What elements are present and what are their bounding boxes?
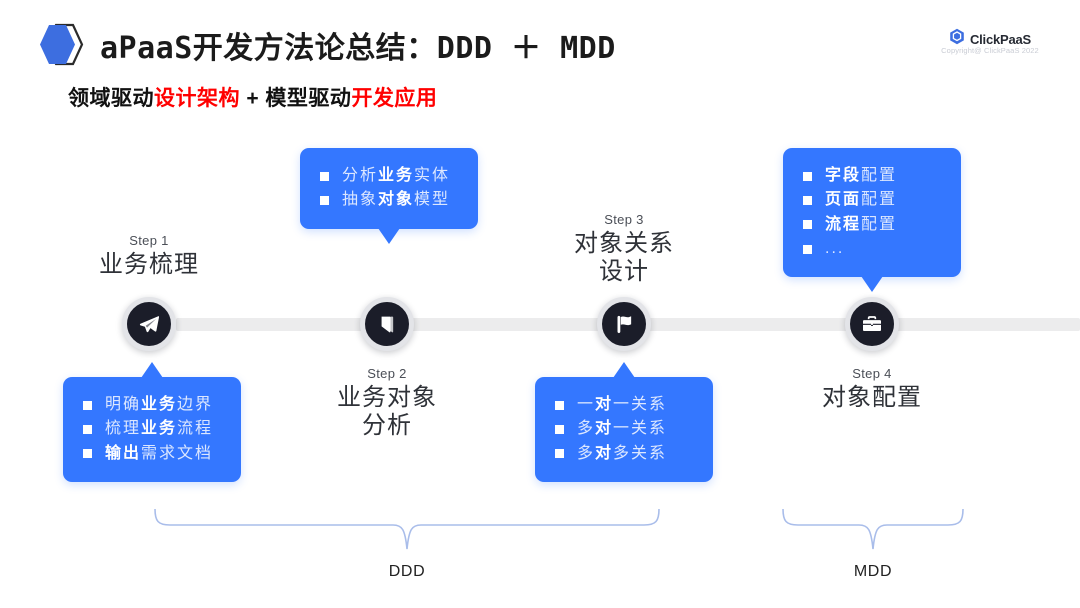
step-caption-2: Step 2 业务对象 分析 <box>287 366 487 441</box>
item-plain-after: 需求文档 <box>141 445 213 462</box>
bullet-square-icon <box>555 449 564 458</box>
item-plain-before: 分析 <box>342 167 378 184</box>
item-bold: 流程 <box>825 216 861 233</box>
callout-item: 多对多关系 <box>555 442 693 466</box>
paper-plane-icon <box>139 314 160 335</box>
callout-item: 明确业务边界 <box>83 393 221 417</box>
page-subtitle: 领域驱动设计架构 + 模型驱动开发应用 <box>68 82 437 112</box>
brand-name: ClickPaaS <box>970 32 1031 47</box>
callout-item: 输出需求文档 <box>83 442 221 466</box>
brace-label-ddd-text: DDD <box>389 563 425 580</box>
item-bold: 业务 <box>141 396 177 413</box>
brace-label-mdd-text: MDD <box>854 563 892 580</box>
item-plain-after: ... <box>825 240 844 257</box>
callout-tail-3 <box>613 362 635 378</box>
item-plain-after: 一关系 <box>613 396 667 413</box>
step-title-3: 对象关系 设计 <box>524 230 724 287</box>
subtitle-part-1: 领域驱动 <box>68 87 154 110</box>
callout-step-1: 明确业务边界 梳理业务流程 输出需求文档 <box>63 377 241 482</box>
item-plain-before: 一 <box>577 396 595 413</box>
step-title-4: 对象配置 <box>772 384 972 412</box>
book-icon <box>377 314 397 335</box>
subtitle-part-4: 开发应用 <box>351 87 437 110</box>
hexagon-logo-icon <box>35 22 91 68</box>
bullet-square-icon <box>320 196 329 205</box>
bullet-square-icon <box>83 449 92 458</box>
item-bold: 输出 <box>105 445 141 462</box>
bullet-square-icon <box>555 401 564 410</box>
callout-item: 字段配置 <box>803 164 941 188</box>
step-kicker-3: Step 3 <box>524 212 724 227</box>
item-plain-after: 边界 <box>177 396 213 413</box>
item-bold: 页面 <box>825 191 861 208</box>
brace-label-mdd: MDD <box>793 563 953 581</box>
item-plain-before: 抽象 <box>342 191 378 208</box>
page-title: aPaaS开发方法论总结：DDD ＋ MDD <box>100 21 616 69</box>
item-plain-after: 配置 <box>861 191 897 208</box>
bullet-square-icon <box>555 425 564 434</box>
bullet-square-icon <box>803 220 812 229</box>
item-bold: 业务 <box>378 167 414 184</box>
item-bold: 业务 <box>141 420 177 437</box>
item-plain-after: 多关系 <box>613 445 667 462</box>
briefcase-icon <box>862 314 882 334</box>
slide-canvas: aPaaS开发方法论总结：DDD ＋ MDD 领域驱动设计架构 + 模型驱动开发… <box>0 0 1080 608</box>
item-plain-before: 多 <box>577 420 595 437</box>
timeline-node-step-4[interactable] <box>845 297 899 351</box>
callout-step-3: 一对一关系 多对一关系 多对多关系 <box>535 377 713 482</box>
step-caption-1: Step 1 业务梳理 <box>49 233 249 279</box>
callout-tail-4 <box>861 276 883 292</box>
subtitle-part-3: + 模型驱动 <box>240 87 351 110</box>
bullet-square-icon <box>803 245 812 254</box>
item-bold: 字段 <box>825 167 861 184</box>
callout-item: 多对一关系 <box>555 417 693 441</box>
brand-block: ClickPaaS Copyright@ ClickPaaS 2022 <box>930 28 1050 55</box>
step-caption-4: Step 4 对象配置 <box>772 366 972 412</box>
callout-item: 流程配置 <box>803 213 941 237</box>
step-kicker-2: Step 2 <box>287 366 487 381</box>
item-bold: 对 <box>595 396 613 413</box>
item-plain-before: 梳理 <box>105 420 141 437</box>
bullet-square-icon <box>83 401 92 410</box>
callout-item: ... <box>803 237 941 261</box>
timeline-node-step-1[interactable] <box>122 297 176 351</box>
step-title-2: 业务对象 分析 <box>287 384 487 441</box>
callout-item: 抽象对象模型 <box>320 188 458 212</box>
item-plain-before: 明确 <box>105 396 141 413</box>
brace-label-ddd: DDD <box>327 563 487 581</box>
step-kicker-1: Step 1 <box>49 233 249 248</box>
item-plain-after: 流程 <box>177 420 213 437</box>
callout-step-4: 字段配置 页面配置 流程配置 ... <box>783 148 961 277</box>
step-title-1: 业务梳理 <box>49 251 249 279</box>
callout-tail-1 <box>141 362 163 378</box>
item-plain-after: 配置 <box>861 216 897 233</box>
callout-item: 页面配置 <box>803 188 941 212</box>
item-plain-after: 实体 <box>414 167 450 184</box>
timeline-node-step-2[interactable] <box>360 297 414 351</box>
brace-mdd <box>778 505 968 558</box>
page-title-text: aPaaS开发方法论总结：DDD ＋ MDD <box>100 23 616 67</box>
callout-item: 分析业务实体 <box>320 164 458 188</box>
bullet-square-icon <box>83 425 92 434</box>
item-plain-after: 配置 <box>861 167 897 184</box>
step-caption-3: Step 3 对象关系 设计 <box>524 212 724 287</box>
callout-item: 一对一关系 <box>555 393 693 417</box>
step-kicker-4: Step 4 <box>772 366 972 381</box>
item-bold: 对象 <box>378 191 414 208</box>
bullet-square-icon <box>803 196 812 205</box>
copyright-text: Copyright@ ClickPaaS 2022 <box>930 46 1050 55</box>
timeline-node-step-3[interactable] <box>597 297 651 351</box>
bullet-square-icon <box>803 172 812 181</box>
item-plain-before: 多 <box>577 445 595 462</box>
callout-tail-2 <box>378 228 400 244</box>
callout-item: 梳理业务流程 <box>83 417 221 441</box>
item-bold: 对 <box>595 420 613 437</box>
item-plain-after: 一关系 <box>613 420 667 437</box>
item-plain-after: 模型 <box>414 191 450 208</box>
flag-icon <box>614 314 635 335</box>
callout-step-2: 分析业务实体 抽象对象模型 <box>300 148 478 229</box>
item-bold: 对 <box>595 445 613 462</box>
bullet-square-icon <box>320 172 329 181</box>
brace-ddd <box>150 505 665 558</box>
subtitle-part-2: 设计架构 <box>154 87 240 110</box>
